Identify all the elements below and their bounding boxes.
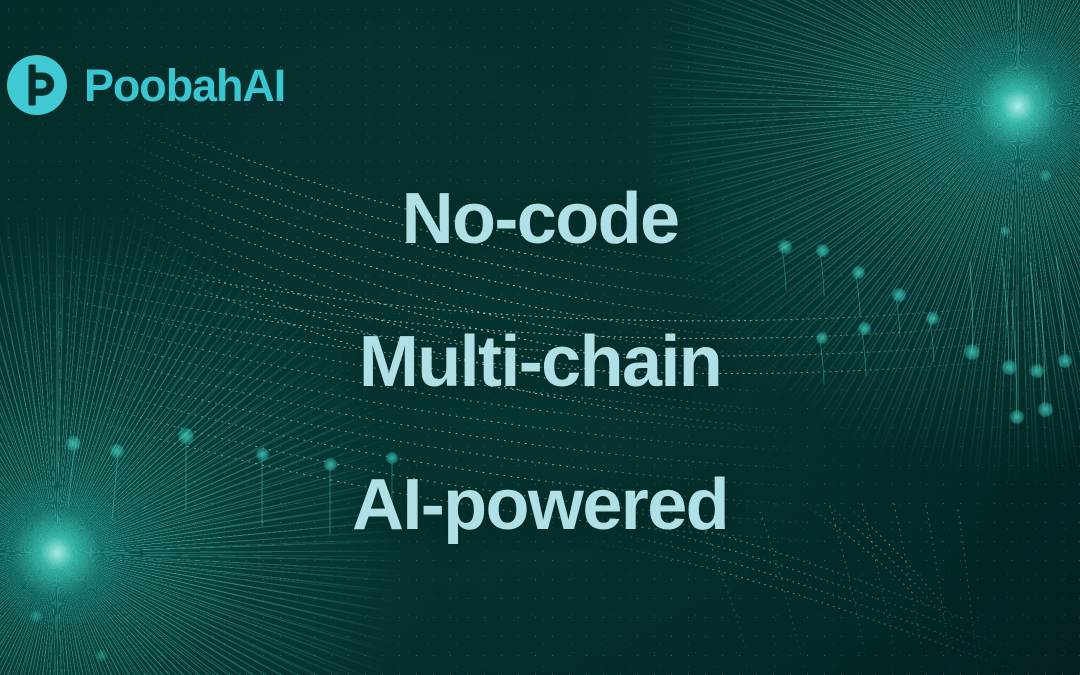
- brand-wordmark: PoobahAI: [84, 63, 285, 108]
- headline-line-3: AI-powered: [60, 434, 1020, 577]
- headline-block: No-code Multi-chain AI-powered: [0, 148, 1080, 577]
- mesh-node-dot: [96, 650, 107, 661]
- promo-banner: PoobahAI No-code Multi-chain AI-powered: [0, 0, 1080, 675]
- poobah-p-circle-icon: [4, 52, 70, 118]
- mesh-node-dot: [30, 610, 42, 622]
- brand-logo[interactable]: PoobahAI: [4, 52, 285, 118]
- headline-line-1: No-code: [60, 148, 1020, 291]
- headline-line-2: Multi-chain: [60, 291, 1020, 434]
